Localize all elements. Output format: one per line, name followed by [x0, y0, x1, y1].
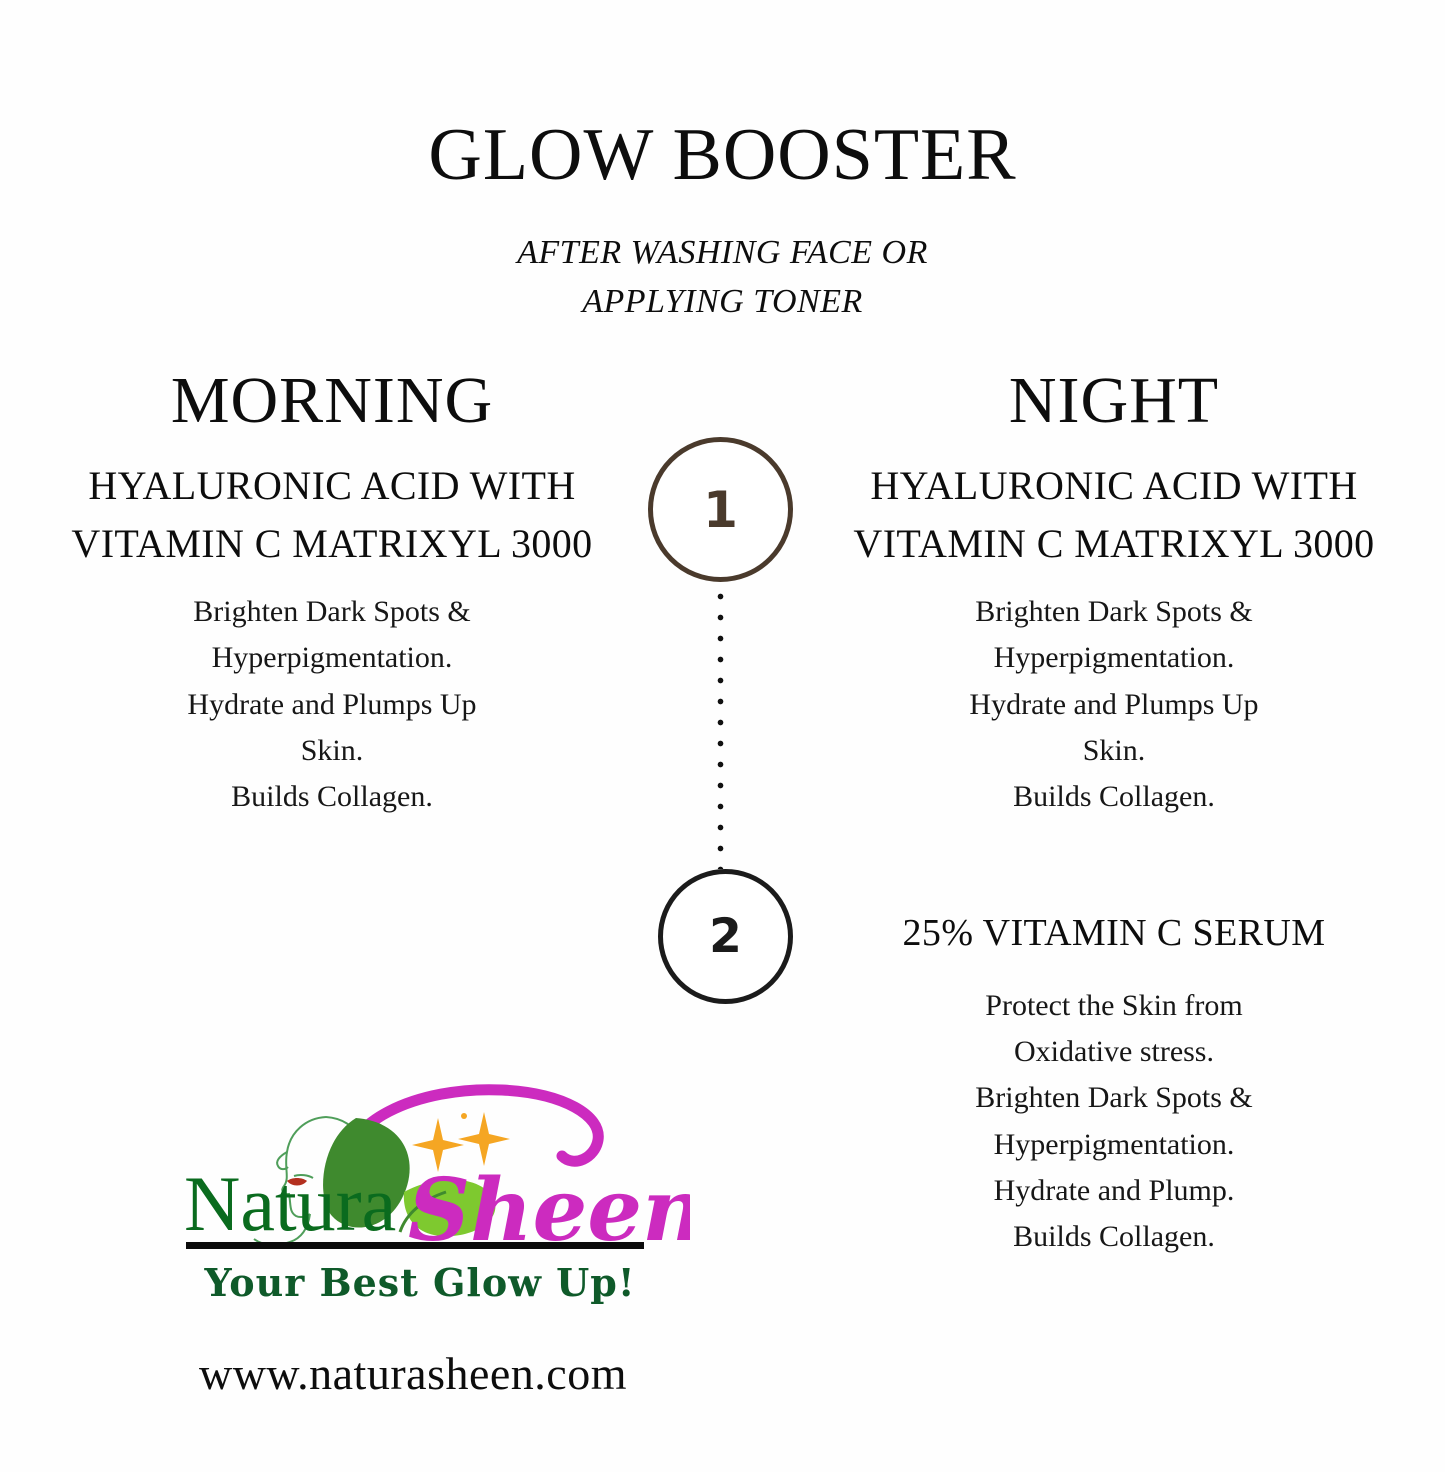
page-title: GLOW BOOSTER: [0, 118, 1445, 192]
benefit-line: Builds Collagen.: [18, 774, 646, 820]
benefit-line: Skin.: [18, 728, 646, 774]
benefit-line: Hyperpigmentation.: [800, 1122, 1428, 1168]
benefit-line: Hyperpigmentation.: [800, 635, 1428, 681]
night-step1-benefits: Brighten Dark Spots & Hyperpigmentation.…: [800, 589, 1428, 820]
website-url: www.naturasheen.com: [0, 1347, 826, 1400]
column-heading-morning: MORNING: [18, 366, 646, 435]
subtitle-line-2: APPLYING TONER: [0, 277, 1445, 326]
benefit-line: Protect the Skin from: [800, 983, 1428, 1029]
benefit-line: Hydrate and Plumps Up: [800, 682, 1428, 728]
benefit-line: Brighten Dark Spots &: [800, 589, 1428, 635]
logo-tagline: Your Best Glow Up!: [150, 1260, 690, 1305]
poster-canvas: GLOW BOOSTER AFTER WASHING FACE OR APPLY…: [0, 0, 1445, 1472]
benefit-line: Brighten Dark Spots &: [18, 589, 646, 635]
page-subtitle: AFTER WASHING FACE OR APPLYING TONER: [0, 228, 1445, 327]
logo-graphic: Natura Sheen: [150, 1082, 690, 1257]
benefit-line: Hyperpigmentation.: [18, 635, 646, 681]
logo-divider-rule: [186, 1242, 644, 1249]
logo-name-part1: Natura: [184, 1160, 396, 1247]
benefit-line: Skin.: [800, 728, 1428, 774]
night-step2-block: 25% VITAMIN C SERUM Protect the Skin fro…: [800, 906, 1428, 1260]
benefit-line: Builds Collagen.: [800, 1214, 1428, 1260]
step-connector-dotted-line: [717, 586, 724, 869]
step-marker-2: 2: [658, 869, 793, 1004]
benefit-line: Hydrate and Plump.: [800, 1168, 1428, 1214]
benefit-line: Oxidative stress.: [800, 1029, 1428, 1075]
brand-logo: Natura Sheen Your Best Glow Up!: [150, 1082, 690, 1312]
column-morning: MORNING HYALURONIC ACID WITH VITAMIN C M…: [18, 366, 646, 820]
column-night: NIGHT HYALURONIC ACID WITH VITAMIN C MAT…: [800, 366, 1428, 820]
step-marker-1: 1: [648, 437, 793, 582]
night-step2-benefits: Protect the Skin from Oxidative stress. …: [800, 983, 1428, 1260]
column-heading-night: NIGHT: [800, 366, 1428, 435]
benefit-line: Builds Collagen.: [800, 774, 1428, 820]
morning-step1-benefits: Brighten Dark Spots & Hyperpigmentation.…: [18, 589, 646, 820]
night-step2-product: 25% VITAMIN C SERUM: [800, 906, 1428, 961]
night-step1-product: HYALURONIC ACID WITH VITAMIN C MATRIXYL …: [800, 457, 1428, 573]
subtitle-line-1: AFTER WASHING FACE OR: [0, 228, 1445, 277]
benefit-line: Brighten Dark Spots &: [800, 1075, 1428, 1121]
benefit-line: Hydrate and Plumps Up: [18, 682, 646, 728]
morning-step1-product: HYALURONIC ACID WITH VITAMIN C MATRIXYL …: [18, 457, 646, 573]
